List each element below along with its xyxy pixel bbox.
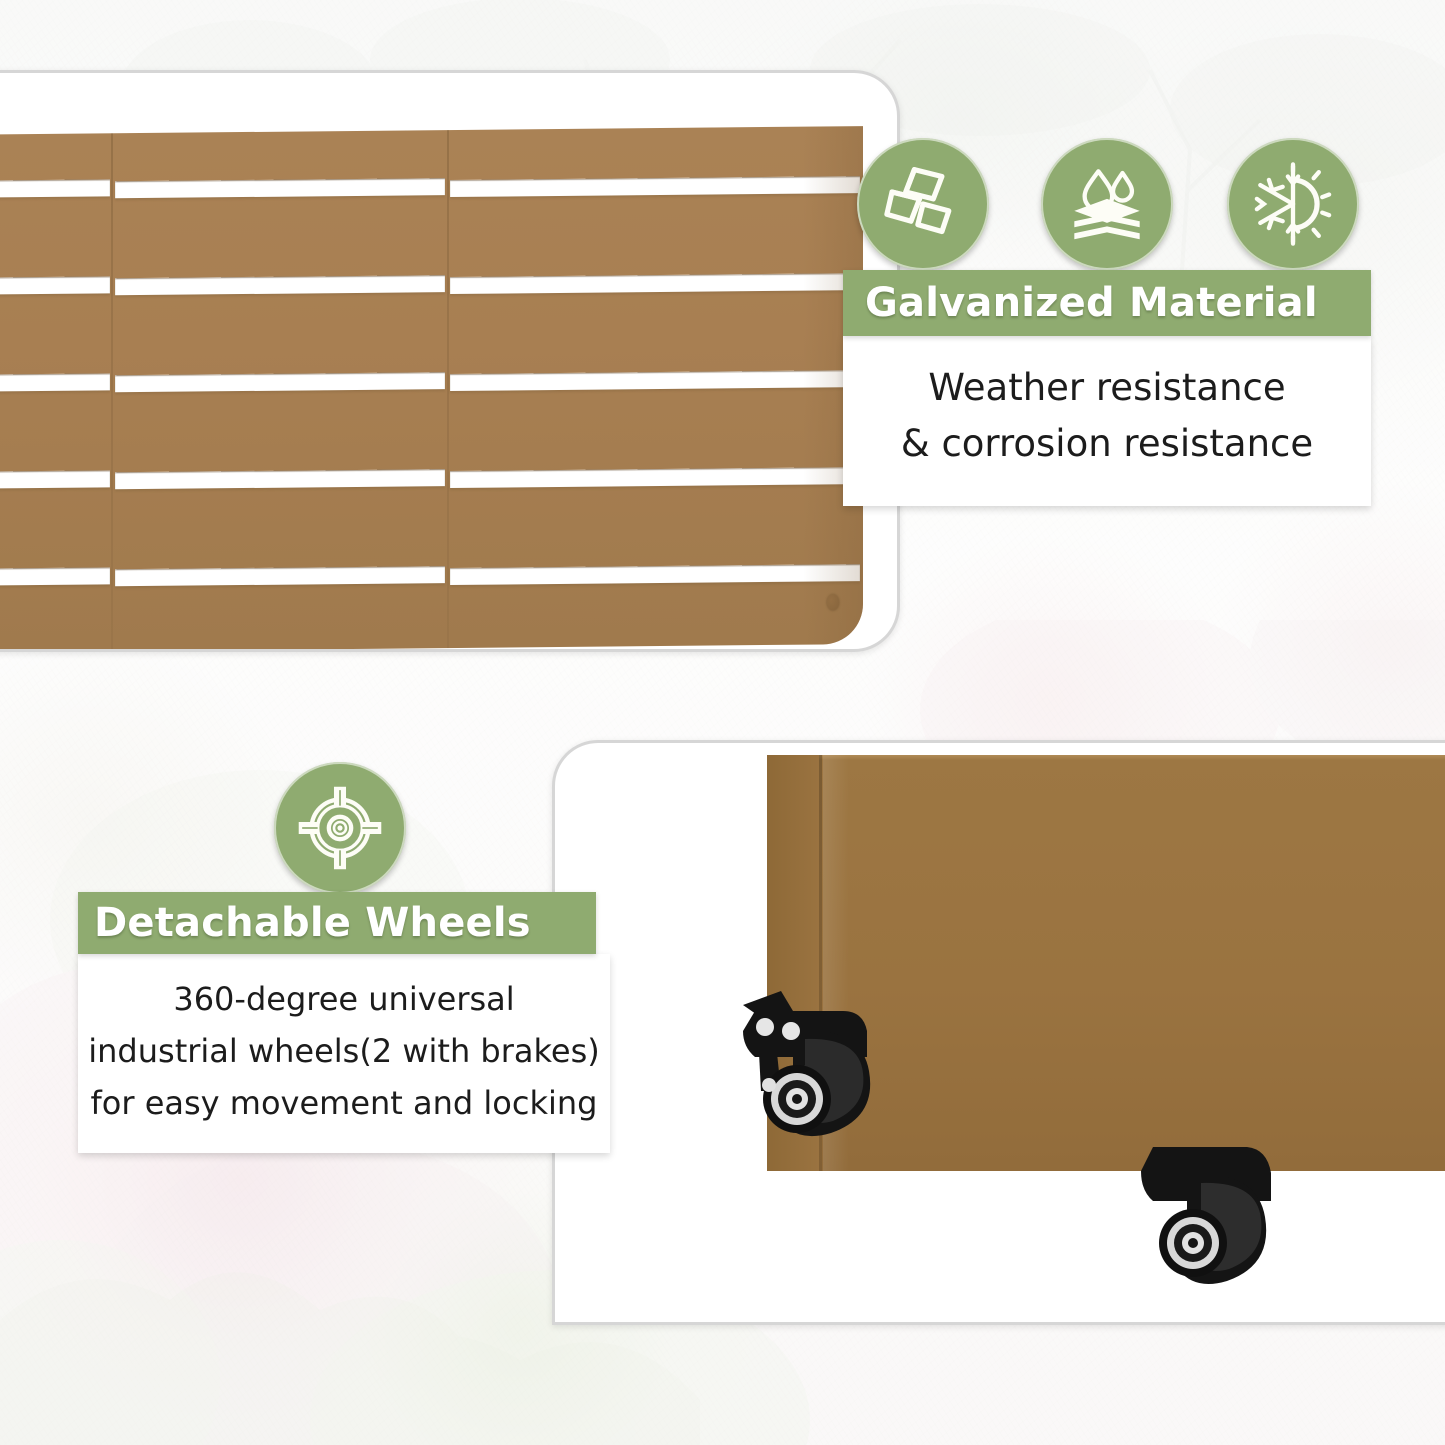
callout-body-line: for easy movement and locking (88, 1078, 600, 1130)
callout-body-line: industrial wheels(2 with brakes) (88, 1026, 600, 1078)
callout-body-line: & corrosion resistance (849, 416, 1365, 472)
callout-title: Detachable Wheels (94, 900, 531, 946)
callout-detachable-wheels: Detachable Wheels 360-degree universal i… (78, 762, 618, 1153)
callout-title-bar: Galvanized Material (843, 270, 1371, 336)
waterproof-layers-icon (1041, 138, 1173, 270)
caster-wheel-1 (735, 987, 925, 1157)
callout-icon-row (78, 762, 618, 892)
callout-body-line: 360-degree universal (88, 974, 600, 1026)
callout-body: Weather resistance & corrosion resistanc… (843, 336, 1371, 506)
product-card-top (0, 70, 900, 652)
callout-body-line: Weather resistance (849, 360, 1365, 416)
crosshair-target-icon (274, 762, 406, 894)
slatted-panel (0, 126, 863, 652)
metal-ingots-icon (857, 138, 989, 270)
callout-title-bar: Detachable Wheels (78, 892, 596, 954)
callout-galvanized-material: Galvanized Material Weather resistance &… (843, 138, 1371, 506)
snowflake-sun-icon (1227, 138, 1359, 270)
panel-rivet (827, 594, 839, 610)
callout-title: Galvanized Material (865, 280, 1318, 326)
product-card-bottom (552, 740, 1445, 1325)
callout-body: 360-degree universal industrial wheels(2… (78, 954, 610, 1153)
caster-wheel-2 (1135, 1143, 1310, 1308)
infographic-canvas: Galvanized Material Weather resistance &… (0, 0, 1445, 1445)
callout-icon-row (843, 138, 1371, 270)
